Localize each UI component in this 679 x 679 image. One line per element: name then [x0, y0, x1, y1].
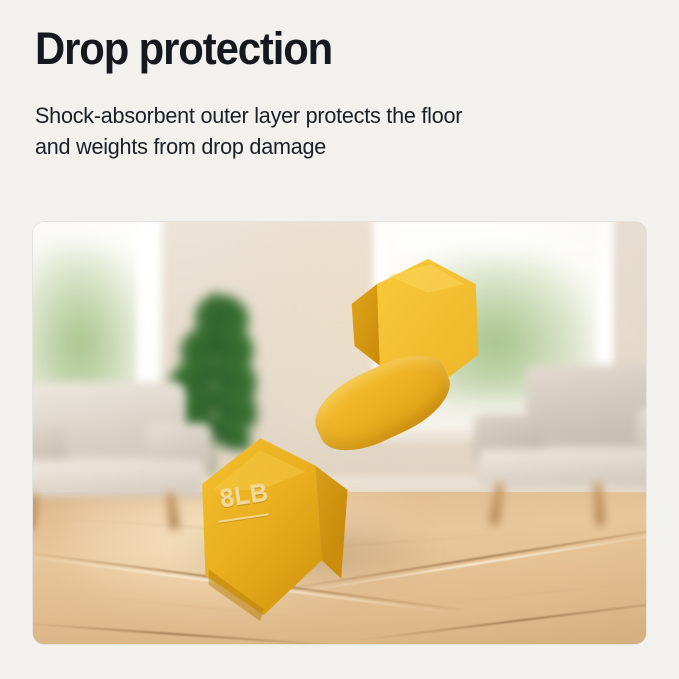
dumbbell-head-near: [186, 429, 364, 627]
product-photo: 8LB: [33, 222, 646, 644]
page-subtitle: Shock-absorbent outer layer protects the…: [35, 100, 649, 162]
marketing-feature-card: Drop protection Shock-absorbent outer la…: [0, 0, 679, 679]
page-subtitle-line-1: Shock-absorbent outer layer protects the…: [35, 100, 649, 131]
room-scene: 8LB: [33, 222, 646, 644]
hex-dumbbell: 8LB: [33, 222, 646, 644]
page-title: Drop protection: [35, 24, 332, 74]
page-subtitle-line-2: and weights from drop damage: [35, 131, 649, 162]
